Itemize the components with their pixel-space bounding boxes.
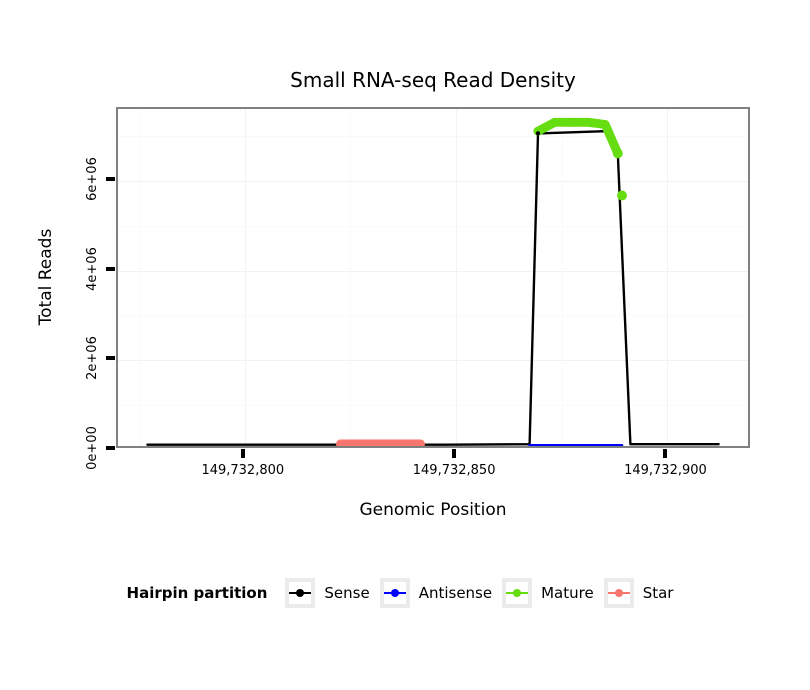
x-tick-label: 149,732,900 [624, 463, 707, 478]
legend-key-inner [384, 582, 406, 604]
data-point [536, 131, 540, 135]
y-tick [106, 267, 115, 271]
y-tick-label: 0e+00 [85, 426, 100, 470]
y-tick-label: 4e+06 [85, 247, 100, 291]
data-point [550, 118, 559, 127]
legend-dot-swatch [513, 589, 521, 597]
legend-item-sense[interactable]: Sense [285, 578, 369, 608]
legend-key-inner [289, 582, 311, 604]
data-point [601, 120, 610, 129]
series-star [336, 440, 425, 446]
legend-key [502, 578, 532, 608]
legend-key-inner [608, 582, 630, 604]
legend-title: Hairpin partition [127, 584, 268, 602]
x-tick [241, 449, 245, 458]
legend-key [604, 578, 634, 608]
chart-title: Small RNA-seq Read Density [116, 68, 750, 92]
legend-key [285, 578, 315, 608]
legend-item-star[interactable]: Star [604, 578, 674, 608]
x-tick [452, 449, 456, 458]
legend-dot-swatch [391, 589, 399, 597]
legend-items: SenseAntisenseMatureStar [285, 578, 683, 608]
plot-area [118, 109, 748, 446]
legend-dot-swatch [296, 589, 304, 597]
x-axis-title: Genomic Position [116, 500, 750, 520]
y-tick [106, 177, 115, 181]
data-point [567, 118, 576, 127]
legend-label: Star [643, 584, 674, 602]
y-tick-label: 2e+06 [85, 336, 100, 380]
y-axis-title: Total Reads [36, 229, 56, 326]
series-layer [118, 109, 748, 446]
plot-panel [116, 107, 750, 448]
y-tick [106, 446, 115, 450]
legend-label: Mature [541, 584, 594, 602]
data-point [584, 118, 593, 127]
chart-figure: Small RNA-seq Read Density Total Reads 0… [0, 0, 810, 690]
x-tick-label: 149,732,800 [201, 463, 284, 478]
series-sense [147, 131, 718, 444]
legend-item-mature[interactable]: Mature [502, 578, 594, 608]
series-line [147, 131, 718, 444]
data-point [613, 148, 623, 158]
series-mature [534, 118, 623, 158]
legend-dot-swatch [615, 589, 623, 597]
y-tick [106, 356, 115, 360]
y-tick-label: 6e+06 [85, 157, 100, 201]
x-tick-label: 149,732,850 [413, 463, 496, 478]
legend-key [380, 578, 410, 608]
legend-item-antisense[interactable]: Antisense [380, 578, 492, 608]
data-point [617, 191, 627, 201]
legend-label: Antisense [419, 584, 492, 602]
legend: Hairpin partition SenseAntisenseMatureSt… [0, 578, 810, 608]
x-tick [663, 449, 667, 458]
legend-key-inner [506, 582, 528, 604]
legend-label: Sense [324, 584, 369, 602]
